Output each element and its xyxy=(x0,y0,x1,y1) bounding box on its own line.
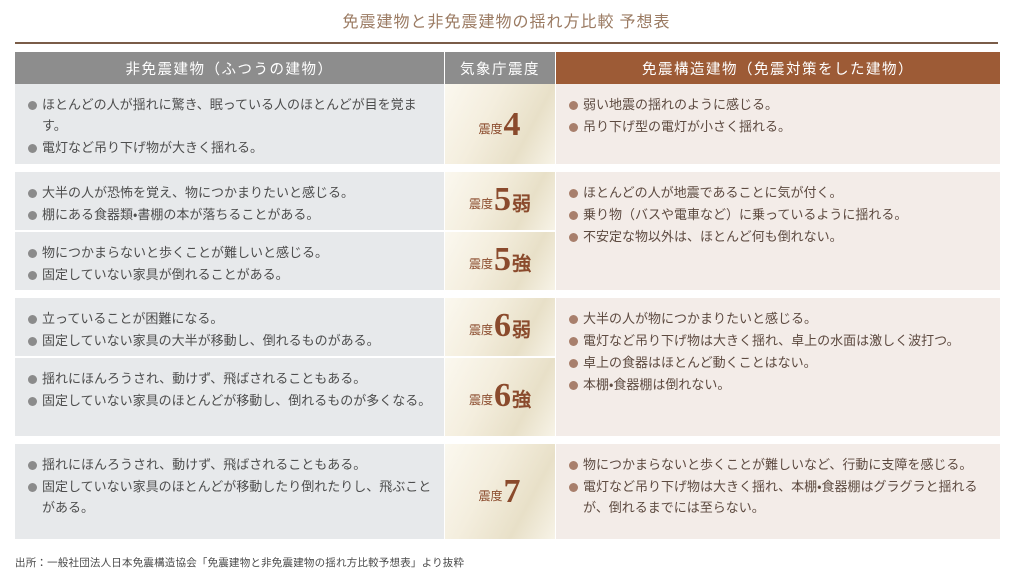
jma-intensity-cell: 震度5弱 xyxy=(445,172,555,230)
source-note: 出所：一般社団法人日本免震構造協会「免震建物と非免震建物の揺れ方比較予想表」より… xyxy=(15,555,464,570)
right-bullet-list: ほとんどの人が地震であることに気が付く。乗り物（バスや電車など）に乗っているよう… xyxy=(568,182,988,247)
list-item: 物につかまらないと歩くことが難しいなど、行動に支障を感じる。 xyxy=(568,454,988,475)
left-bullet-list: 大半の人が恐怖を覚え、物につかまりたいと感じる。棚にある食器類・書棚の本が落ちる… xyxy=(27,182,432,225)
seismic-isolated-cell: ほとんどの人が地震であることに気が付く。乗り物（バスや電車など）に乗っているよう… xyxy=(556,172,1000,290)
left-bullet-list: ほとんどの人が揺れに驚き、眠っている人のほとんどが目を覚ます。電灯など吊り下げ物… xyxy=(27,94,432,158)
comparison-table: 非免震建物（ふつうの建物） 気象庁震度 免震構造建物（免震対策をした建物） ほと… xyxy=(15,52,998,539)
non-seismic-isolated-column: 揺れにほんろうされ、動けず、飛ばされることもある。固定していない家具のほとんどが… xyxy=(15,444,444,539)
jma-intensity-column: 震度6弱震度6強 xyxy=(445,298,555,436)
non-seismic-isolated-column: 大半の人が恐怖を覚え、物につかまりたいと感じる。棚にある食器類・書棚の本が落ちる… xyxy=(15,172,444,290)
list-item: 本棚・食器棚は倒れない。 xyxy=(568,374,988,395)
shindo-prefix: 震度 xyxy=(469,321,493,340)
shindo-suffix: 強 xyxy=(512,386,531,417)
list-item: 固定していない家具のほとんどが移動し、倒れるものが多くなる。 xyxy=(27,390,432,411)
title-divider xyxy=(15,42,998,44)
shindo-number: 6 xyxy=(493,309,512,343)
shindo-label: 震度5強 xyxy=(469,243,531,281)
left-bullet-list: 立っていることが困難になる。固定していない家具の大半が移動し、倒れるものがある。 xyxy=(27,308,432,351)
shindo-label: 震度7 xyxy=(478,475,521,509)
jma-intensity-cell: 震度5強 xyxy=(445,232,555,290)
right-bullet-list: 物につかまらないと歩くことが難しいなど、行動に支障を感じる。電灯など吊り下げ物は… xyxy=(568,454,988,518)
list-item: 電灯など吊り下げ物は大きく揺れ、本棚・食器棚はグラグラと揺れるが、倒れるまでには… xyxy=(568,476,988,518)
header-non-seismic-isolated: 非免震建物（ふつうの建物） xyxy=(15,52,444,84)
list-item: 乗り物（バスや電車など）に乗っているように揺れる。 xyxy=(568,204,988,225)
left-bullet-list: 物につかまらないと歩くことが難しいと感じる。固定していない家具が倒れることがある… xyxy=(27,242,432,285)
page-title: 免震建物と非免震建物の揺れ方比較 予想表 xyxy=(0,13,1013,32)
shindo-number: 4 xyxy=(503,108,522,142)
non-seismic-isolated-column: 立っていることが困難になる。固定していない家具の大半が移動し、倒れるものがある。… xyxy=(15,298,444,436)
list-item: 電灯など吊り下げ物が大きく揺れる。 xyxy=(27,137,432,158)
shindo-number: 6 xyxy=(493,379,512,413)
header-seismic-isolated: 免震構造建物（免震対策をした建物） xyxy=(556,52,1000,84)
jma-intensity-cell: 震度4 xyxy=(445,84,555,164)
non-seismic-isolated-cell: ほとんどの人が揺れに驚き、眠っている人のほとんどが目を覚ます。電灯など吊り下げ物… xyxy=(15,84,444,164)
table-header-row: 非免震建物（ふつうの建物） 気象庁震度 免震構造建物（免震対策をした建物） xyxy=(15,52,998,84)
list-item: 不安定な物以外は、ほとんど何も倒れない。 xyxy=(568,226,988,247)
table-row: 揺れにほんろうされ、動けず、飛ばされることもある。固定していない家具のほとんどが… xyxy=(15,444,998,539)
list-item: 大半の人が恐怖を覚え、物につかまりたいと感じる。 xyxy=(27,182,432,203)
list-item: 物につかまらないと歩くことが難しいと感じる。 xyxy=(27,242,432,263)
right-bullet-list: 大半の人が物につかまりたいと感じる。電灯など吊り下げ物は大きく揺れ、卓上の水面は… xyxy=(568,308,988,395)
table-row: ほとんどの人が揺れに驚き、眠っている人のほとんどが目を覚ます。電灯など吊り下げ物… xyxy=(15,84,998,164)
non-seismic-isolated-cell: 揺れにほんろうされ、動けず、飛ばされることもある。固定していない家具のほとんどが… xyxy=(15,358,444,436)
seismic-isolated-cell: 物につかまらないと歩くことが難しいなど、行動に支障を感じる。電灯など吊り下げ物は… xyxy=(556,444,1000,539)
shindo-prefix: 震度 xyxy=(469,391,493,410)
shindo-number: 5 xyxy=(493,183,512,217)
shindo-number: 5 xyxy=(493,243,512,277)
seismic-isolated-cell: 弱い地震の揺れのように感じる。吊り下げ型の電灯が小さく揺れる。 xyxy=(556,84,1000,164)
left-bullet-list: 揺れにほんろうされ、動けず、飛ばされることもある。固定していない家具のほとんどが… xyxy=(27,368,432,411)
left-bullet-list: 揺れにほんろうされ、動けず、飛ばされることもある。固定していない家具のほとんどが… xyxy=(27,454,432,518)
shindo-label: 震度4 xyxy=(478,108,521,142)
non-seismic-isolated-column: ほとんどの人が揺れに驚き、眠っている人のほとんどが目を覚ます。電灯など吊り下げ物… xyxy=(15,84,444,164)
table-body: ほとんどの人が揺れに驚き、眠っている人のほとんどが目を覚ます。電灯など吊り下げ物… xyxy=(15,84,998,539)
list-item: 揺れにほんろうされ、動けず、飛ばされることもある。 xyxy=(27,368,432,389)
list-item: 吊り下げ型の電灯が小さく揺れる。 xyxy=(568,116,988,137)
title-area: 免震建物と非免震建物の揺れ方比較 予想表 xyxy=(0,0,1013,32)
jma-intensity-cell: 震度6強 xyxy=(445,358,555,436)
list-item: 揺れにほんろうされ、動けず、飛ばされることもある。 xyxy=(27,454,432,475)
shindo-suffix: 強 xyxy=(512,250,531,281)
seismic-isolated-cell: 大半の人が物につかまりたいと感じる。電灯など吊り下げ物は大きく揺れ、卓上の水面は… xyxy=(556,298,1000,436)
page-root: 免震建物と非免震建物の揺れ方比較 予想表 非免震建物（ふつうの建物） 気象庁震度… xyxy=(0,0,1013,576)
shindo-label: 震度5弱 xyxy=(469,183,531,221)
table-row: 大半の人が恐怖を覚え、物につかまりたいと感じる。棚にある食器類・書棚の本が落ちる… xyxy=(15,172,998,290)
list-item: 卓上の食器はほとんど動くことはない。 xyxy=(568,352,988,373)
right-bullet-list: 弱い地震の揺れのように感じる。吊り下げ型の電灯が小さく揺れる。 xyxy=(568,94,988,137)
non-seismic-isolated-cell: 揺れにほんろうされ、動けず、飛ばされることもある。固定していない家具のほとんどが… xyxy=(15,444,444,539)
shindo-prefix: 震度 xyxy=(478,120,502,139)
jma-intensity-cell: 震度6弱 xyxy=(445,298,555,356)
group-separator xyxy=(15,436,998,444)
list-item: 固定していない家具のほとんどが移動したり倒れたりし、飛ぶことがある。 xyxy=(27,476,432,518)
jma-intensity-cell: 震度7 xyxy=(445,444,555,539)
shindo-label: 震度6弱 xyxy=(469,309,531,347)
shindo-prefix: 震度 xyxy=(469,195,493,214)
jma-intensity-column: 震度4 xyxy=(445,84,555,164)
table-row: 立っていることが困難になる。固定していない家具の大半が移動し、倒れるものがある。… xyxy=(15,298,998,436)
group-separator xyxy=(15,290,998,298)
shindo-suffix: 弱 xyxy=(512,190,531,221)
list-item: ほとんどの人が揺れに驚き、眠っている人のほとんどが目を覚ます。 xyxy=(27,94,432,136)
list-item: ほとんどの人が地震であることに気が付く。 xyxy=(568,182,988,203)
list-item: 固定していない家具が倒れることがある。 xyxy=(27,264,432,285)
list-item: 立っていることが困難になる。 xyxy=(27,308,432,329)
non-seismic-isolated-cell: 物につかまらないと歩くことが難しいと感じる。固定していない家具が倒れることがある… xyxy=(15,232,444,290)
jma-intensity-column: 震度5弱震度5強 xyxy=(445,172,555,290)
shindo-prefix: 震度 xyxy=(478,487,502,506)
list-item: 電灯など吊り下げ物は大きく揺れ、卓上の水面は激しく波打つ。 xyxy=(568,330,988,351)
header-jma-intensity: 気象庁震度 xyxy=(445,52,555,84)
non-seismic-isolated-cell: 立っていることが困難になる。固定していない家具の大半が移動し、倒れるものがある。 xyxy=(15,298,444,356)
list-item: 棚にある食器類・書棚の本が落ちることがある。 xyxy=(27,204,432,225)
list-item: 固定していない家具の大半が移動し、倒れるものがある。 xyxy=(27,330,432,351)
group-separator xyxy=(15,164,998,172)
shindo-prefix: 震度 xyxy=(469,255,493,274)
jma-intensity-column: 震度7 xyxy=(445,444,555,539)
list-item: 弱い地震の揺れのように感じる。 xyxy=(568,94,988,115)
shindo-number: 7 xyxy=(503,475,522,509)
shindo-label: 震度6強 xyxy=(469,379,531,417)
shindo-suffix: 弱 xyxy=(512,316,531,347)
list-item: 大半の人が物につかまりたいと感じる。 xyxy=(568,308,988,329)
non-seismic-isolated-cell: 大半の人が恐怖を覚え、物につかまりたいと感じる。棚にある食器類・書棚の本が落ちる… xyxy=(15,172,444,230)
